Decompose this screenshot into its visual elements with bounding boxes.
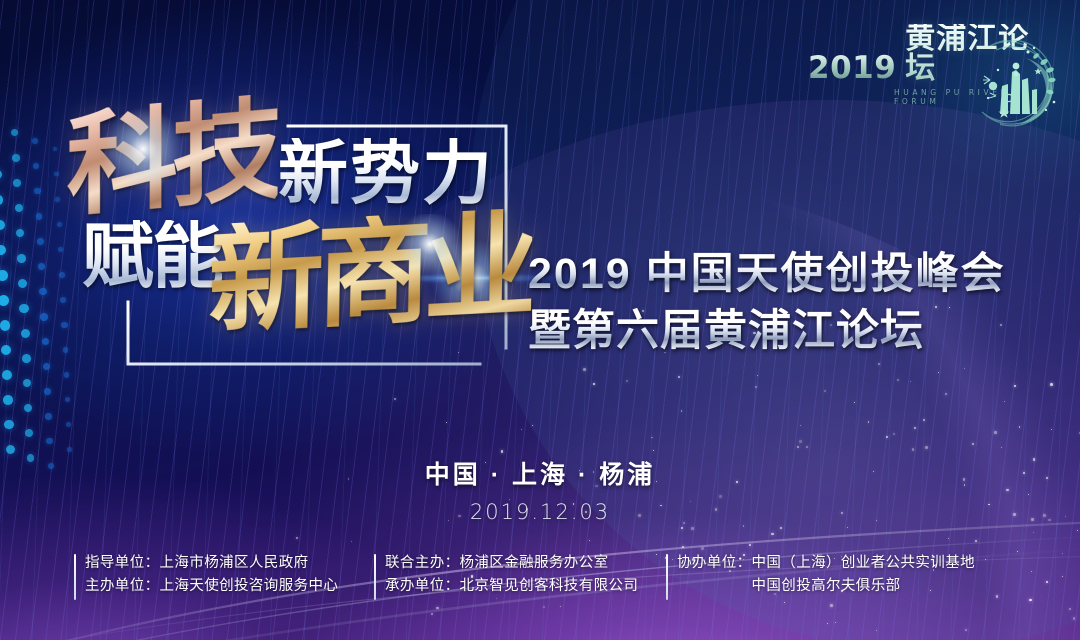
calligraphy-funeng: 赋能 [82, 220, 222, 292]
main-title-line2: 暨第六届黄浦江论坛 [528, 303, 1014, 360]
credit-line: 中国创投高尔夫俱乐部 [677, 577, 975, 595]
credit-column-1: 指导单位：上海市杨浦区人民政府 主办单位：上海天使创投咨询服务中心 [74, 554, 374, 600]
calligraphy-xinshili: 新势力 [278, 138, 494, 208]
event-poster: 2019 黄浦江论坛 HUANG PU RIVER FORUM [0, 0, 1080, 640]
logo-year: 2019 [808, 53, 896, 84]
calligraphy-xinshangye: 新商业 [207, 207, 533, 340]
credit-separator-bar [74, 554, 76, 600]
location-block: 中国 · 上海 · 杨浦 2019.12.03 [0, 455, 1080, 524]
location-city: 中国 · 上海 · 杨浦 [0, 455, 1080, 491]
calligraphy-keji: 科技 [66, 93, 277, 224]
credit-line: 联合主办：杨浦区金融服务办公室 [385, 554, 638, 572]
shanghai-skyline-crescent-emblem [966, 40, 1062, 132]
credit-line: 协办单位：中国（上海）创业者公共实训基地 [677, 554, 975, 572]
main-title-line1: 2019 中国天使创投峰会 [528, 246, 1014, 303]
forum-logo: 2019 黄浦江论坛 HUANG PU RIVER FORUM [808, 24, 1058, 134]
credit-line: 承办单位：北京智见创客科技有限公司 [385, 577, 638, 595]
credit-line: 主办单位：上海天使创投咨询服务中心 [85, 577, 338, 595]
credit-column-3: 协办单位：中国（上海）创业者公共实训基地 中国创投高尔夫俱乐部 [666, 554, 975, 600]
credit-separator-bar [666, 554, 668, 600]
credit-separator-bar [374, 554, 376, 600]
calligraphy-slogan: 科技 新势力 赋能 新商业 [60, 96, 530, 386]
credit-column-2: 联合主办：杨浦区金融服务办公室 承办单位：北京智见创客科技有限公司 [374, 554, 666, 600]
event-date: 2019.12.03 [0, 500, 1080, 524]
main-title: 2019 中国天使创投峰会 暨第六届黄浦江论坛 [528, 246, 1014, 360]
credits-bar: 指导单位：上海市杨浦区人民政府 主办单位：上海天使创投咨询服务中心 联合主办：杨… [74, 554, 1020, 600]
credit-line: 指导单位：上海市杨浦区人民政府 [85, 554, 338, 572]
